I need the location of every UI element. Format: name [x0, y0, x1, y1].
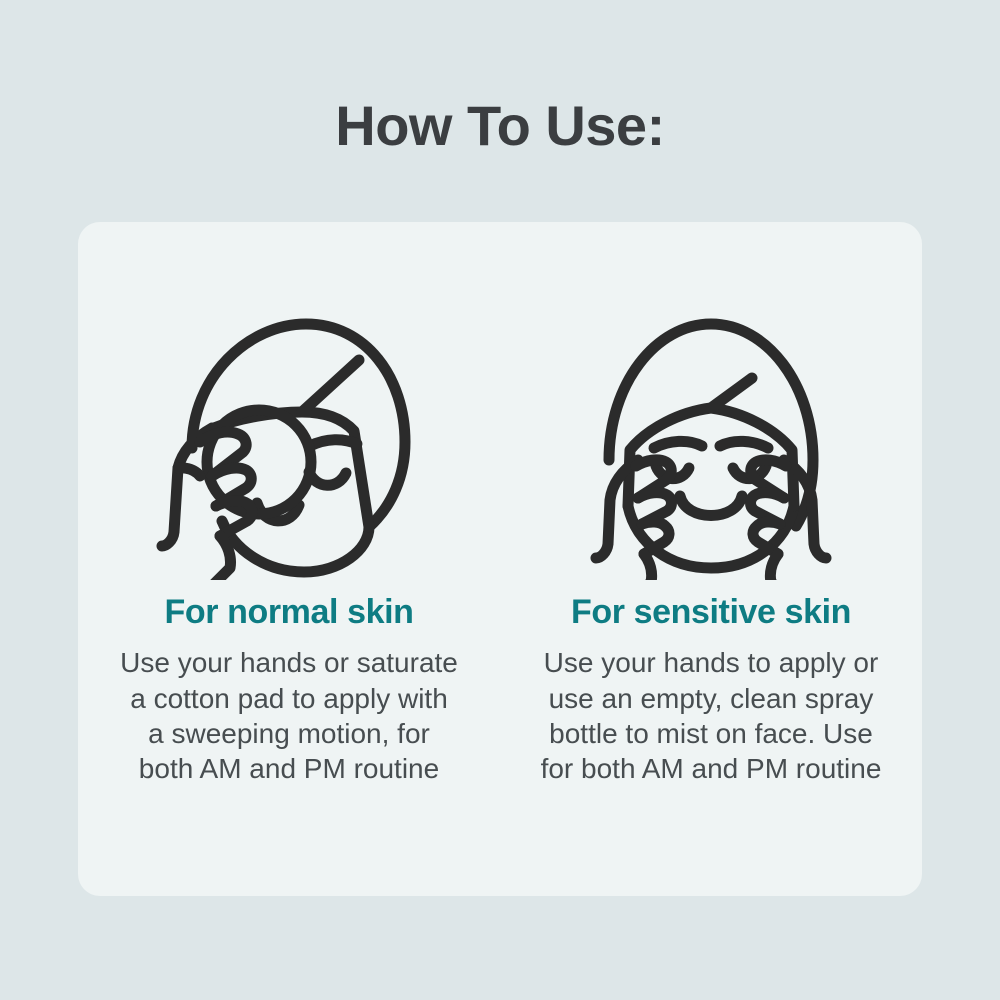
- column-heading-normal-skin: For normal skin: [164, 594, 413, 631]
- woman-patting-face-with-both-hands-icon: [576, 300, 846, 580]
- column-heading-sensitive-skin: For sensitive skin: [571, 594, 851, 631]
- instruction-column-sensitive-skin: For sensitive skin Use your hands to app…: [500, 222, 922, 786]
- page-title: How To Use:: [0, 98, 1000, 154]
- column-body-sensitive-skin: Use your hands to apply or use an empty,…: [539, 645, 884, 786]
- column-body-normal-skin: Use your hands or saturate a cotton pad …: [119, 645, 459, 786]
- instruction-column-normal-skin: For normal skin Use your hands or satura…: [78, 222, 500, 786]
- how-to-use-infographic: How To Use:: [0, 0, 1000, 1000]
- instruction-columns: For normal skin Use your hands or satura…: [78, 222, 922, 896]
- woman-applying-toner-with-cotton-pad-icon: [154, 300, 424, 580]
- instructions-card: For normal skin Use your hands or satura…: [78, 222, 922, 896]
